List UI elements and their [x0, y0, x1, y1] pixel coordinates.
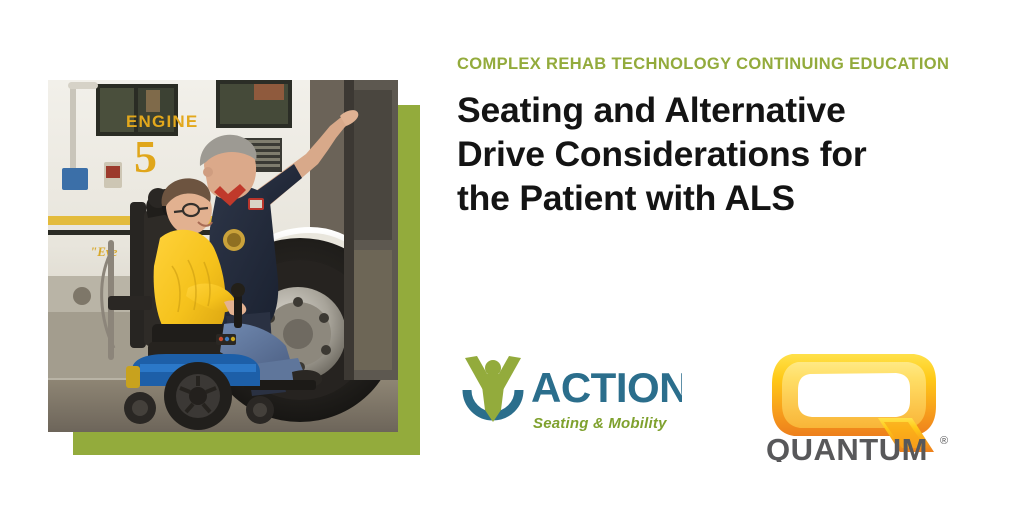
page-title: Seating and Alternative Drive Considerat…: [457, 88, 927, 220]
action-tagline: Seating & Mobility: [533, 415, 667, 432]
eyebrow-label: COMPLEX REHAB TECHNOLOGY CONTINUING EDUC…: [457, 54, 997, 74]
presentation-slide: ENGINE 5 "Eve: [0, 0, 1024, 512]
svg-text:ENGINE: ENGINE: [126, 112, 198, 131]
title-line-1: Seating and Alternative: [457, 88, 927, 132]
action-logo-svg: ACTION Seating & Mobility: [457, 348, 682, 443]
quantum-logo: QUANTUM ®: [762, 344, 962, 462]
text-content: COMPLEX REHAB TECHNOLOGY CONTINUING EDUC…: [457, 54, 997, 244]
course-photo: ENGINE 5 "Eve: [48, 80, 398, 432]
logo-row: ACTION Seating & Mobility: [457, 344, 997, 464]
photo-illustration: ENGINE 5 "Eve: [48, 80, 398, 432]
quantum-logo-svg: QUANTUM ®: [762, 344, 962, 462]
title-line-2: Drive Considerations for: [457, 132, 927, 176]
action-seating-mobility-logo: ACTION Seating & Mobility: [457, 348, 682, 443]
title-line-3: the Patient with ALS: [457, 176, 927, 220]
action-wordmark: ACTION: [531, 364, 682, 411]
svg-text:5: 5: [134, 131, 157, 182]
quantum-trademark-symbol: ®: [940, 435, 948, 447]
photo-area: ENGINE 5 "Eve: [48, 80, 420, 455]
quantum-wordmark: QUANTUM: [766, 432, 928, 462]
